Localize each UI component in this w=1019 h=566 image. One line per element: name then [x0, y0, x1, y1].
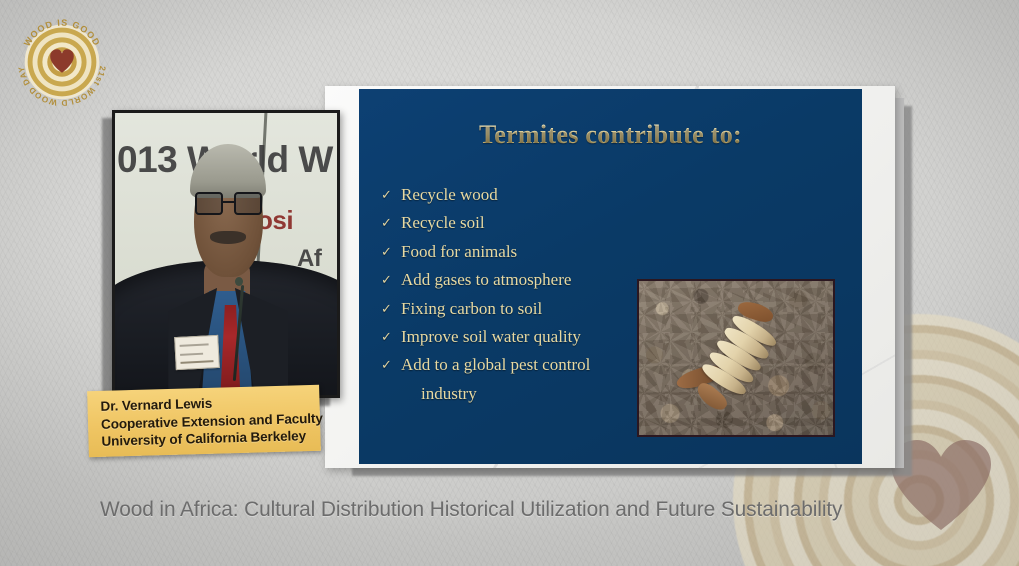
bullet-text: Food for animals [401, 238, 681, 266]
bullet-text-line1: Add to a global pest control [401, 355, 590, 374]
speaker-photo: 013 World W mposi Af Za [112, 110, 340, 398]
termite-in-soil-photo [637, 279, 835, 437]
glasses-bridge [223, 201, 234, 203]
world-wood-day-logo-icon: WOOD IS GOOD 21st WORLD WOOD DAY [8, 6, 116, 114]
check-icon: ✓ [381, 209, 401, 237]
check-icon: ✓ [381, 323, 401, 351]
slide-content-area: Termites contribute to: ✓ Recycle wood ✓… [359, 89, 862, 464]
speaker-nametag: Dr. Vernard Lewis Cooperative Extension … [87, 385, 321, 457]
speaker-photo-inner: 013 World W mposi Af Za [115, 113, 337, 395]
badge-line [180, 353, 203, 356]
list-item: ✓ Add to a global pest control industry [381, 351, 681, 408]
bullet-text: Recycle wood [401, 181, 681, 209]
speaker-name-badge [174, 335, 220, 370]
list-item: ✓ Fixing carbon to soil [381, 295, 681, 323]
check-icon: ✓ [381, 181, 401, 209]
badge-line [180, 360, 213, 364]
list-item: ✓ Recycle wood [381, 181, 681, 209]
bullet-text: Recycle soil [401, 209, 681, 237]
glasses-lens-right [234, 192, 262, 215]
check-icon: ✓ [381, 238, 401, 266]
list-item: ✓ Add gases to atmosphere [381, 266, 681, 294]
slide-title: Termites contribute to: [359, 120, 862, 150]
slide-presentation-frame: WOOD IS GOOD 21st WORLD WOOD DAY Termite… [0, 0, 1019, 566]
list-item: ✓ Improve soil water quality [381, 323, 681, 351]
presentation-caption: Wood in Africa: Cultural Distribution Hi… [100, 497, 842, 522]
list-item: ✓ Food for animals [381, 238, 681, 266]
slide-bullet-list: ✓ Recycle wood ✓ Recycle soil ✓ Food for… [381, 181, 681, 408]
glasses-icon [195, 192, 262, 215]
check-icon: ✓ [381, 295, 401, 323]
check-icon: ✓ [381, 351, 401, 379]
list-item: ✓ Recycle soil [381, 209, 681, 237]
glasses-lens-left [195, 192, 223, 215]
badge-line [179, 344, 209, 348]
check-icon: ✓ [381, 266, 401, 294]
